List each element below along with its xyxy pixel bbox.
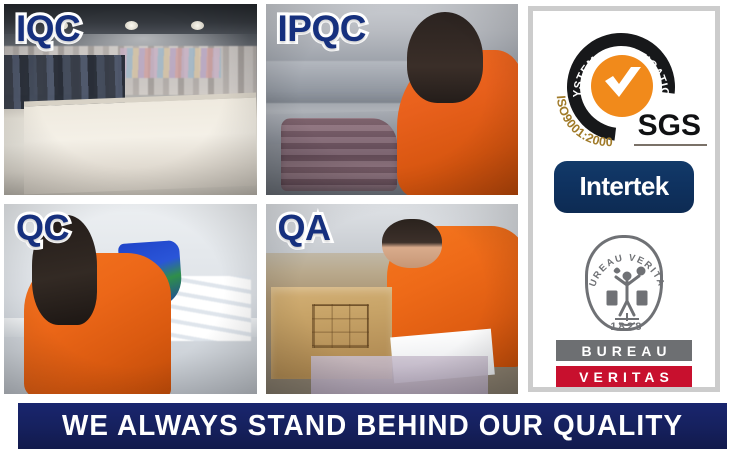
folded-garment-stack xyxy=(281,118,397,190)
photo-label-qa: QA xyxy=(278,210,331,246)
inspection-machine xyxy=(24,93,256,195)
bureau-veritas-seal: BUREAU VERITAS 1828 xyxy=(585,235,663,331)
svg-text:ISO9001:2000: ISO9001:2000 xyxy=(554,95,613,149)
photo-cell-qa[interactable]: QA xyxy=(266,204,519,395)
certification-panel: SYSTEM CERTIFICATION ISO9001:2000 xyxy=(528,6,720,392)
sgs-wordmark: SGS xyxy=(638,109,701,143)
photo-label-iqc: IQC xyxy=(16,10,80,47)
photo-grid: IQC IPQC QC xyxy=(4,4,518,394)
sgs-logo[interactable]: SYSTEM CERTIFICATION ISO9001:2000 xyxy=(549,27,699,147)
photo-label-qc: QC xyxy=(16,210,69,246)
sgs-standard-text: ISO9001:2000 xyxy=(551,83,643,153)
bureau-veritas-logo[interactable]: BUREAU VERITAS 1828 xyxy=(549,235,699,387)
photo-cell-iqc[interactable]: IQC xyxy=(4,4,257,195)
colored-fabric-rolls xyxy=(120,48,221,78)
lamp-icon xyxy=(191,21,204,30)
quality-collage: IQC IPQC QC xyxy=(0,0,745,463)
worker-hair xyxy=(407,12,483,103)
photo-label-ipqc: IPQC xyxy=(278,10,366,47)
bv-bar-veritas: VERITAS xyxy=(556,366,692,387)
photo-cell-qc[interactable]: QC xyxy=(4,204,257,395)
intertek-logo[interactable]: Intertek xyxy=(554,161,694,213)
bv-bar-bureau: BUREAU xyxy=(556,340,692,361)
poly-bagged-goods xyxy=(311,356,488,394)
sgs-iso-label: ISO9001:2000 xyxy=(554,95,613,149)
slogan-text: WE ALWAYS STAND BEHIND OUR QUALITY xyxy=(62,410,683,443)
intertek-wordmark: Intertek xyxy=(579,171,668,202)
slogan-banner: WE ALWAYS STAND BEHIND OUR QUALITY xyxy=(18,403,727,449)
photo-cell-ipqc[interactable]: IPQC xyxy=(266,4,519,195)
auditor-head xyxy=(382,219,443,269)
bv-seal-year: 1828 xyxy=(610,321,643,333)
